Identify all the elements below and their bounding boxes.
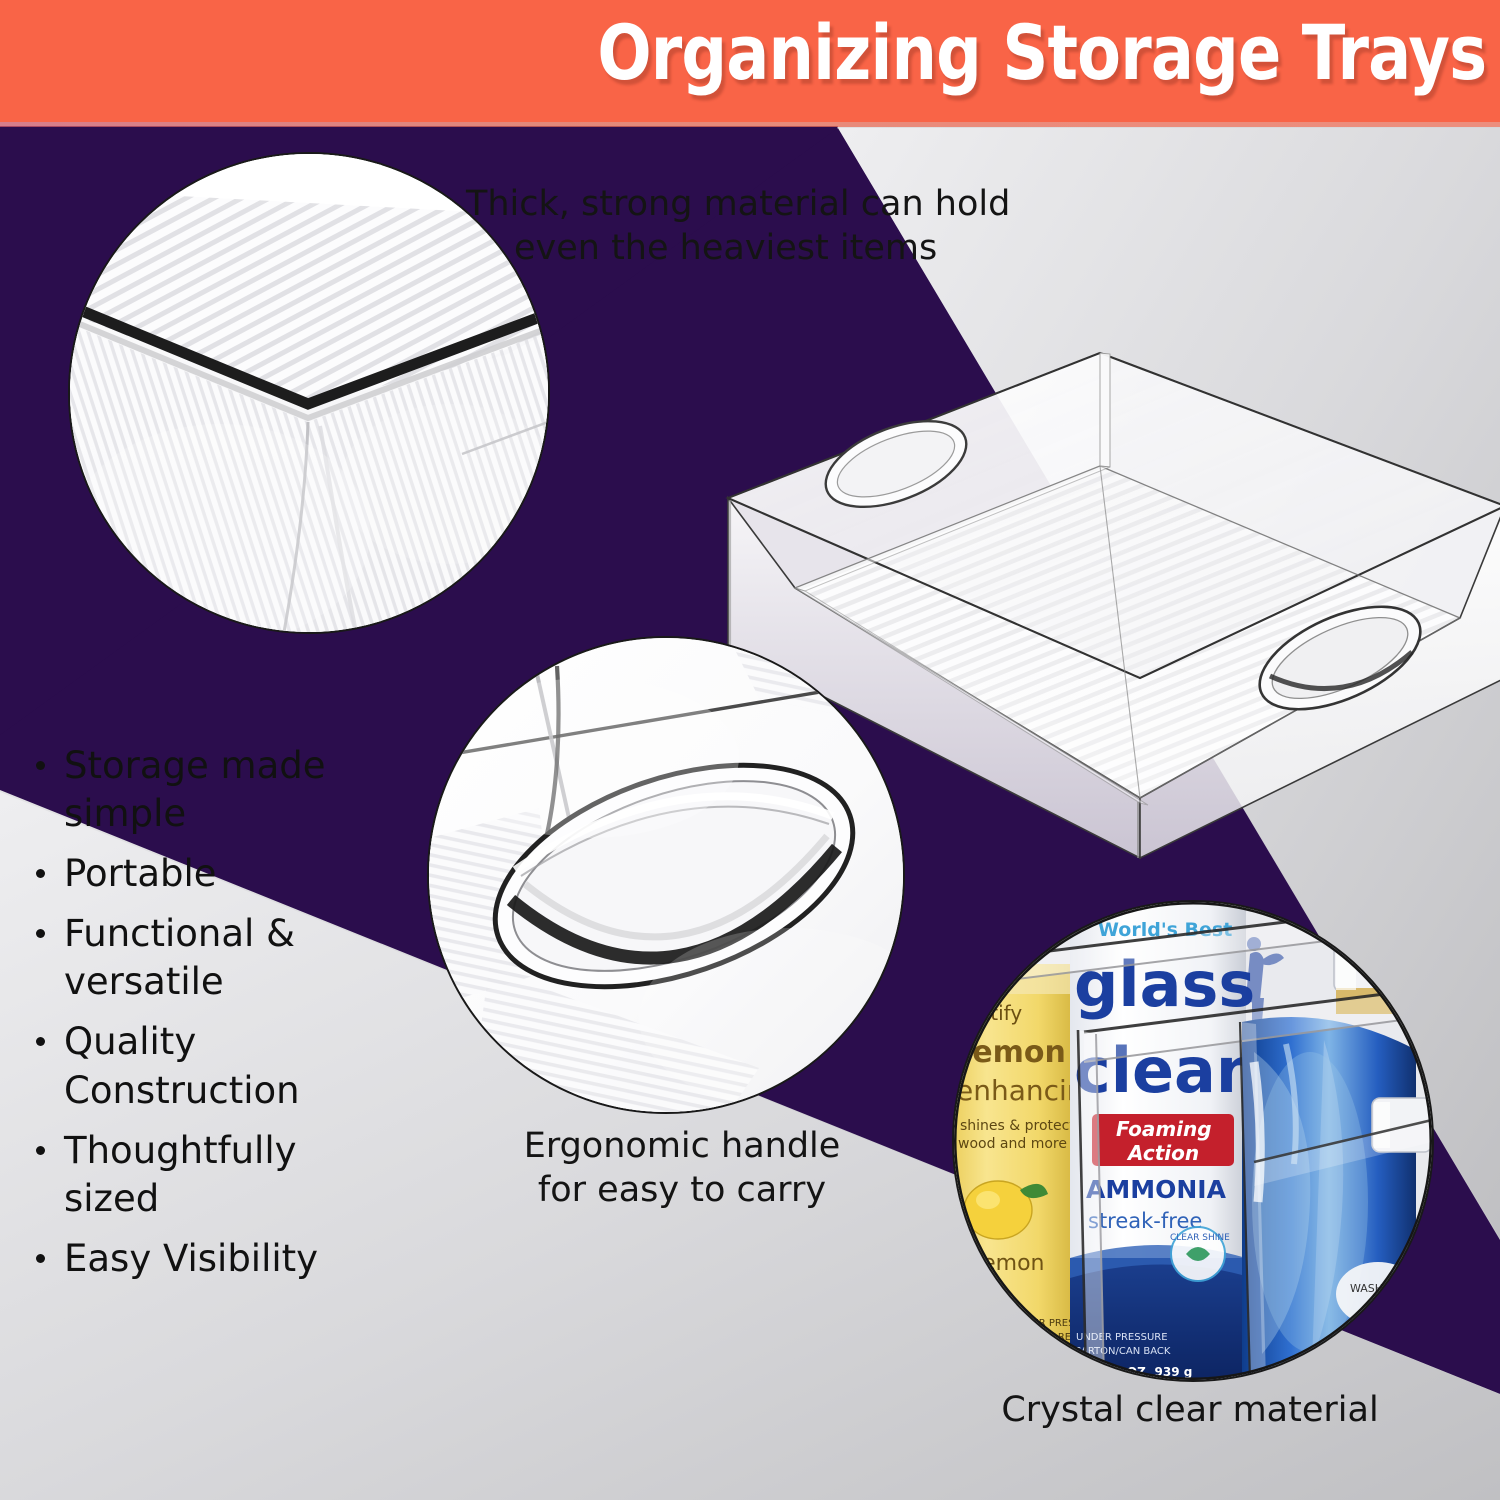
svg-text:CLEAR SHINE: CLEAR SHINE: [1170, 1233, 1230, 1243]
feature-list-item: Functional & versatile: [30, 910, 380, 1006]
page-title: Organizing Storage Trays: [597, 8, 1486, 97]
caption-ergonomic-handle: Ergonomic handle for easy to carry: [487, 1124, 877, 1213]
feature-list-item: Portable: [30, 850, 380, 898]
feature-list-item: Storage made simple: [30, 742, 380, 838]
banner-bottom-edge: [0, 122, 1500, 127]
caption-thick-material-line2: even the heaviest items: [466, 226, 1066, 270]
feature-list-item: Quality Construction: [30, 1018, 380, 1114]
callout-crystal-clear-material: lemon enhancing shines & protects wood a…: [952, 900, 1434, 1382]
header-banner: Organizing Storage Trays: [0, 0, 1500, 122]
svg-text:shines & protects: shines & protects: [960, 1118, 1082, 1134]
infographic-canvas: lemon enhancing shines & protects wood a…: [0, 0, 1500, 1500]
feature-list-item: Thoughtfully sized: [30, 1127, 380, 1223]
feature-list-item: Easy Visibility: [30, 1235, 380, 1283]
caption-ergonomic-handle-line2: for easy to carry: [487, 1168, 877, 1212]
caption-ergonomic-handle-line1: Ergonomic handle: [487, 1124, 877, 1168]
feature-list: Storage made simple Portable Functional …: [30, 742, 380, 1295]
svg-text:AMMONIA: AMMONIA: [1086, 1175, 1227, 1204]
caption-crystal-clear: Crystal clear material: [960, 1388, 1420, 1432]
caption-thick-material: Thick, strong material can hold even the…: [466, 182, 1066, 271]
svg-text:Action: Action: [1126, 1141, 1199, 1165]
caption-thick-material-line1: Thick, strong material can hold: [466, 182, 1066, 226]
svg-text:wood and more: wood and more: [958, 1136, 1067, 1152]
svg-text:Foaming: Foaming: [1116, 1117, 1212, 1141]
callout-ergonomic-handle: [427, 636, 905, 1114]
